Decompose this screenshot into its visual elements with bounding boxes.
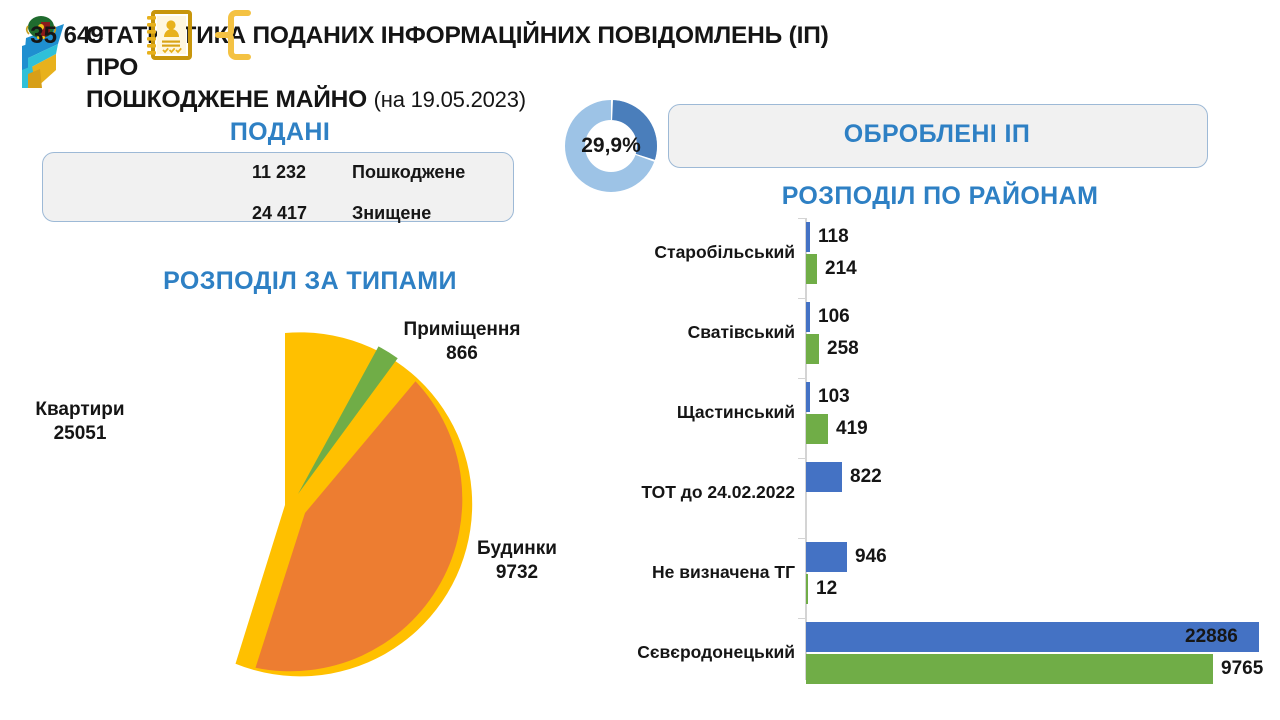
bar-processed	[806, 654, 1213, 684]
bar-awaiting	[806, 222, 810, 252]
bar-awaiting	[806, 542, 847, 572]
bar-value-awaiting: 22886	[1185, 626, 1238, 648]
bar-chart-row: Сватівський106258	[560, 298, 1280, 376]
axis-tick	[798, 618, 806, 619]
bar-category-label: Сєвєродонецький	[560, 642, 795, 663]
axis-tick	[798, 458, 806, 459]
bar-processed	[806, 574, 808, 604]
destroyed-label: Знищене	[352, 203, 512, 224]
damaged-count: 11 232	[252, 162, 338, 183]
bar-processed	[806, 254, 817, 284]
submitted-section-title: ПОДАНІ	[40, 118, 520, 147]
bar-chart-row: Не визначена ТГ94612	[560, 538, 1280, 616]
document-card-icon	[146, 10, 194, 60]
bar-category-label: ТОТ до 24.02.2022	[560, 482, 795, 503]
bar-value-awaiting: 822	[850, 466, 882, 488]
axis-tick	[798, 298, 806, 299]
infographic-page: СТАТИСТИКА ПОДАНИХ ІНФОРМАЦІЙНИХ ПОВІДОМ…	[0, 0, 1280, 720]
bar-value-processed: 419	[836, 418, 868, 440]
destroyed-count: 24 417	[252, 203, 338, 224]
bar-chart-row: Щастинський103419	[560, 378, 1280, 456]
page-title-line1: СТАТИСТИКА ПОДАНИХ ІНФОРМАЦІЙНИХ ПОВІДОМ…	[86, 22, 829, 81]
bar-category-label: Сватівський	[560, 322, 795, 343]
bar-value-processed: 9765	[1221, 658, 1263, 680]
bar-value-awaiting: 103	[818, 386, 850, 408]
bar-awaiting	[806, 302, 810, 332]
processed-section-title: ОБРОБЛЕНІ ІП	[668, 120, 1206, 149]
districts-section-title: РОЗПОДІЛ ПО РАЙОНАМ	[660, 182, 1220, 211]
types-section-title: РОЗПОДІЛ ЗА ТИПАМИ	[30, 267, 590, 296]
pie-label-prymishchennya-name: Приміщення	[372, 318, 552, 342]
pie-label-prymishchennya-value: 866	[372, 342, 552, 366]
submitted-total-value: 35 649	[12, 22, 122, 50]
bar-processed	[806, 414, 828, 444]
bar-value-awaiting: 118	[818, 226, 849, 248]
bar-value-processed: 12	[816, 578, 837, 600]
bar-category-label: Старобільський	[560, 242, 795, 263]
bar-chart-row: Сєвєродонецький228869765	[560, 618, 1280, 696]
pie-label-kvartyry: Квартири 25051	[10, 398, 150, 446]
bar-value-awaiting: 946	[855, 546, 887, 568]
damaged-label: Пошкоджене	[352, 162, 512, 183]
bar-value-processed: 258	[827, 338, 859, 360]
districts-bar-chart: Старобільський118214Сватівський106258Щас…	[560, 218, 1280, 700]
bar-category-label: Не визначена ТГ	[560, 562, 795, 583]
pie-label-kvartyry-value: 25051	[10, 422, 150, 446]
pie-label-kvartyry-name: Квартири	[10, 398, 150, 422]
bar-awaiting	[806, 382, 810, 412]
axis-tick	[798, 378, 806, 379]
bar-chart-row: Старобільський118214	[560, 218, 1280, 296]
axis-tick	[798, 218, 806, 219]
bar-value-processed: 214	[825, 258, 857, 280]
bar-value-awaiting: 106	[818, 306, 850, 328]
bar-processed	[806, 334, 819, 364]
brace-connector-icon	[200, 10, 252, 60]
bar-chart-row: ТОТ до 24.02.2022822	[560, 458, 1280, 536]
processed-percent-label: 29,9%	[563, 98, 659, 194]
types-pie-chart	[105, 325, 475, 695]
bar-category-label: Щастинський	[560, 402, 795, 423]
pie-label-prymishchennya: Приміщення 866	[372, 318, 552, 366]
page-title-line2: ПОШКОДЖЕНЕ МАЙНО	[86, 86, 367, 113]
page-title-date: (на 19.05.2023)	[374, 87, 526, 112]
bar-awaiting	[806, 462, 842, 492]
axis-tick	[798, 538, 806, 539]
